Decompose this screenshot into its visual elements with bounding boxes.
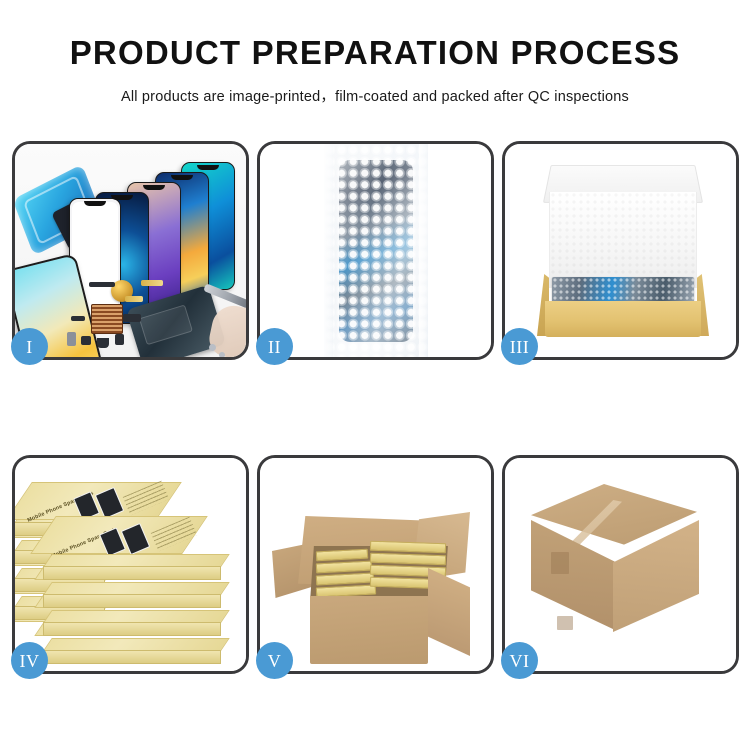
small-part-flex: [71, 316, 85, 321]
stacked-box: [43, 610, 221, 636]
small-part-speaker: [97, 338, 109, 348]
sealed-carton-illustration: [505, 458, 736, 671]
plastic-sheen: [324, 144, 428, 357]
inner-box-illustration: [505, 144, 736, 357]
step-badge-2: II: [256, 328, 293, 365]
phone-notch-icon: [197, 165, 219, 170]
wrapped-product-in-box: [552, 277, 694, 303]
process-step-card-6: VI: [502, 455, 739, 674]
phone-parts-illustration: [15, 144, 246, 357]
process-step-card-1: I: [12, 141, 249, 360]
bubble-wrap-illustration: [260, 144, 491, 357]
flex-cable-gold-2: [125, 296, 143, 302]
process-step-card-5: V: [257, 455, 494, 674]
foam-lining: [549, 192, 697, 288]
carton-flap-tab-lower: [557, 616, 573, 630]
process-step-card-3: III: [502, 141, 739, 360]
flex-cable-gold-1: [141, 280, 163, 286]
small-part-button: [81, 336, 91, 345]
box-edge: [43, 594, 221, 608]
page-header: PRODUCT PREPARATION PROCESS All products…: [0, 0, 750, 106]
box-edge: [43, 622, 221, 636]
small-part-module: [123, 314, 141, 322]
screw-part: [219, 352, 225, 357]
process-step-card-4: Mobile Phone Spare Parts Mobile Phone Sp…: [12, 455, 249, 674]
step-badge-3: III: [501, 328, 538, 365]
bubble-wrap-sleeve: [324, 144, 428, 357]
process-steps-grid: I II III: [12, 141, 738, 674]
small-part-sim-tray: [67, 332, 76, 346]
carton-front-panel: [310, 596, 428, 664]
page-title: PRODUCT PREPARATION PROCESS: [0, 36, 750, 69]
foam-texture: [550, 192, 696, 288]
small-part-camera: [115, 334, 124, 345]
stacked-box: [43, 554, 221, 580]
stacked-box: [43, 582, 221, 608]
box-edge: [43, 650, 221, 664]
phone-notch-icon: [171, 175, 193, 180]
process-step-card-2: II: [257, 141, 494, 360]
carton-filling-illustration: [260, 458, 491, 671]
carton-flap-tab: [551, 552, 569, 574]
phone-notch-icon: [84, 201, 106, 206]
copper-mesh-part: [91, 304, 123, 334]
small-part-connector: [89, 282, 115, 287]
boxed-stack-illustration: Mobile Phone Spare Parts Mobile Phone Sp…: [15, 458, 246, 671]
step-badge-6: VI: [501, 642, 538, 679]
box-front-panel: [545, 301, 701, 337]
stacked-box: [43, 638, 221, 664]
step-badge-5: V: [256, 642, 293, 679]
box-edge: [43, 566, 221, 580]
step-badge-4: IV: [11, 642, 48, 679]
carton-side-panel: [428, 568, 470, 656]
phone-notch-icon: [111, 195, 133, 200]
page-subtitle: All products are image-printed，film-coat…: [0, 85, 750, 106]
phone-notch-icon: [143, 185, 165, 190]
labelled-box-second: Mobile Phone Spare Parts: [43, 516, 195, 556]
step-badge-1: I: [11, 328, 48, 365]
screw-part: [209, 344, 216, 351]
